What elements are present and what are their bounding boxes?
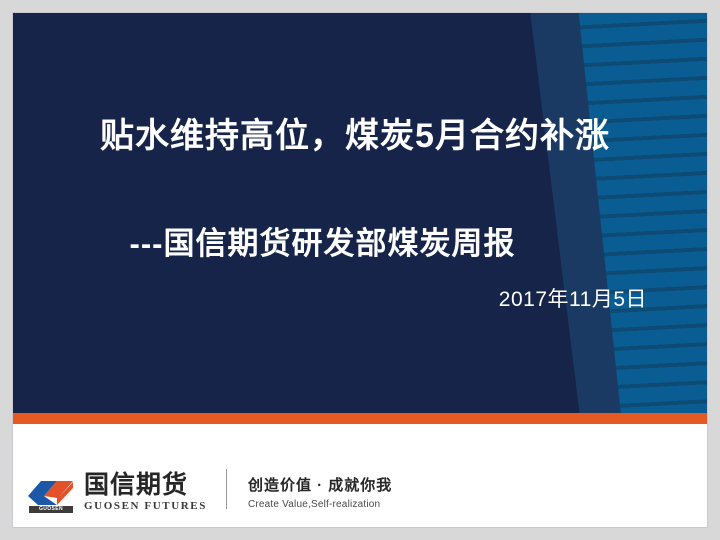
brand-divider [226, 469, 227, 509]
company-name-en: GUOSEN FUTURES [84, 501, 207, 512]
slide-subtitle: ---国信期货研发部煤炭周报 [13, 218, 632, 263]
company-name-cn: 国信期货 [84, 473, 207, 498]
slide-canvas: 贴水维持高位，煤炭5月合约补涨 ---国信期货研发部煤炭周报 2017年11月5… [13, 13, 707, 527]
hero-text-group: 贴水维持高位，煤炭5月合约补涨 ---国信期货研发部煤炭周报 2017年11月5… [13, 13, 707, 413]
slogan-en: Create Value,Self-realization [248, 499, 392, 510]
brand-slogan: 创造价值 · 成就你我 Create Value,Self-realizatio… [248, 474, 392, 513]
slide-date: 2017年11月5日 [499, 283, 647, 313]
slide-title: 贴水维持高位，煤炭5月合约补涨 [13, 108, 697, 157]
orange-divider-bar [13, 413, 707, 424]
brand-wordmark: 国信期货 GUOSEN FUTURES [84, 473, 207, 513]
slide-footer: GUOSEN 国信期货 GUOSEN FUTURES 创造价值 · 成就你我 C… [13, 424, 707, 527]
slogan-cn: 创造价值 · 成就你我 [248, 474, 392, 495]
brand-lockup: GUOSEN 国信期货 GUOSEN FUTURES 创造价值 · 成就你我 C… [27, 469, 392, 513]
title-slide-hero: 贴水维持高位，煤炭5月合约补涨 ---国信期货研发部煤炭周报 2017年11月5… [13, 13, 707, 413]
guosen-diamond-logo-icon: GUOSEN [27, 479, 75, 513]
guosen-logo-tag: GUOSEN [29, 506, 73, 513]
